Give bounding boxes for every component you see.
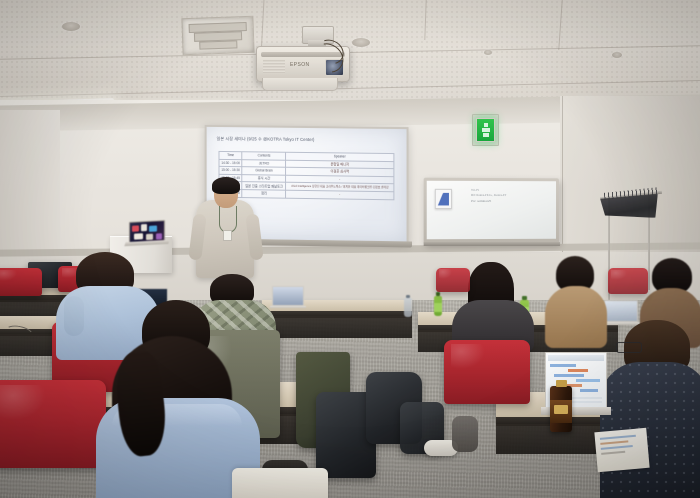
whiteboard-notes: Wi-Fi ID: Kotra-IT-G , Kotra-IT Pw: semi… <box>471 188 550 204</box>
chair-front-left-lower <box>0 380 106 468</box>
white-bag-foreground <box>232 468 328 498</box>
laptop-keyboard <box>270 306 306 309</box>
laptop-screen <box>604 300 638 322</box>
document-glyph <box>438 192 449 205</box>
podium-laptop <box>129 220 165 243</box>
papers-front-right <box>594 428 649 472</box>
whiteboard-note-line: Pw: seminar25 <box>471 198 550 203</box>
chair-back-right <box>608 268 648 294</box>
coffee-bottle <box>550 386 572 432</box>
slide-cell-contents: 정리 <box>242 190 286 198</box>
document-magnet-icon <box>435 189 452 209</box>
green-tea-bottle <box>434 296 442 316</box>
photo-scene: EPSON 일본 시장 세미나 (9/25 수 @KOTRA Tokyo IT … <box>0 0 700 498</box>
presenter-badge <box>223 230 232 241</box>
app-toolbar <box>548 355 604 361</box>
laptop-keyboard <box>602 322 640 325</box>
eyeglasses <box>616 342 642 353</box>
audience-laptop-back-right <box>604 300 638 322</box>
whiteboard-marker-tray <box>424 242 560 246</box>
downlight <box>352 38 370 47</box>
projector-lower-housing <box>262 78 338 91</box>
chair-rear-right <box>436 268 470 292</box>
presenter-lanyard <box>219 206 237 233</box>
slide-cell-speaker: - <box>286 190 394 199</box>
slide-schedule-table: Time Contents Speaker 14:30 - 15:00 JETR… <box>219 151 395 200</box>
emergency-exit-sign <box>476 118 495 142</box>
water-bottle <box>404 298 412 317</box>
air-vent <box>181 16 254 55</box>
downlight <box>612 52 622 58</box>
projector-vent-grille <box>263 60 285 74</box>
shoulder-left <box>64 296 84 336</box>
chair-mid-right <box>444 340 530 404</box>
whiteboard: Wi-Fi ID: Kotra-IT-G , Kotra-IT Pw: semi… <box>427 181 556 240</box>
running-person-icon <box>482 123 490 137</box>
presenter-hair <box>212 177 240 194</box>
downlight <box>62 22 80 31</box>
downlight <box>484 50 492 55</box>
chair-rear-left <box>0 268 42 296</box>
projector-brand-label: EPSON <box>290 62 310 68</box>
laptop-screen <box>272 286 304 306</box>
audience-laptop-mid <box>272 286 304 306</box>
leg <box>452 416 478 452</box>
